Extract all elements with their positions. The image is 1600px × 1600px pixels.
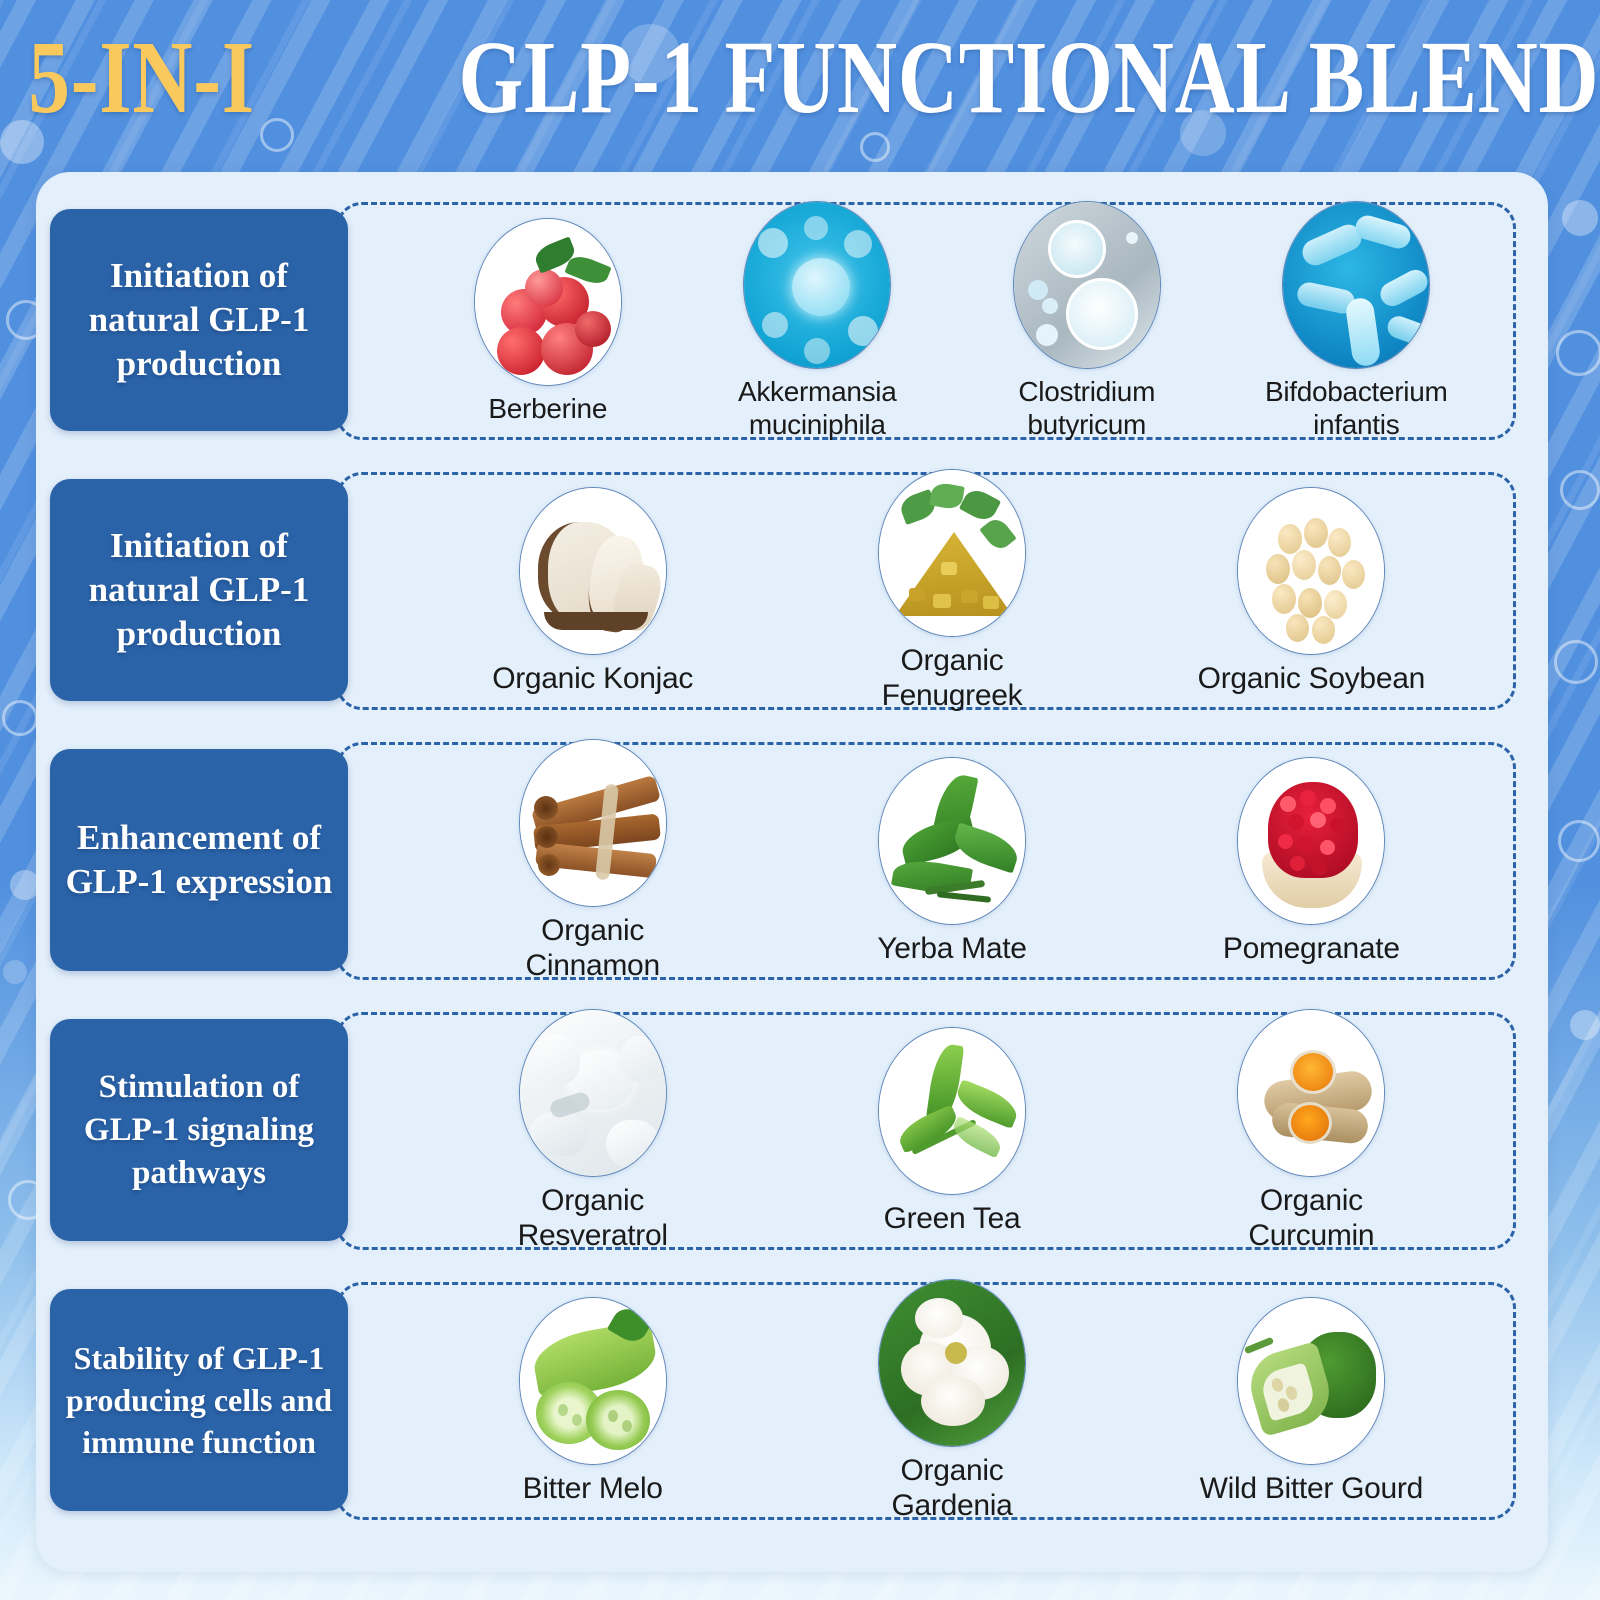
- konjac-root-icon: [519, 487, 667, 655]
- green-tea-leaf-icon: [878, 1027, 1026, 1195]
- background-dot-icon: [1562, 200, 1598, 236]
- background-circle-icon: [1560, 470, 1600, 510]
- item-label: Organic Soybean: [1196, 661, 1426, 696]
- list-item[interactable]: Organic Curcumin: [1196, 1009, 1426, 1253]
- background-circle-icon: [1558, 820, 1600, 862]
- cinnamon-sticks-icon: [519, 739, 667, 907]
- background-circle-icon: [1554, 640, 1598, 684]
- list-item[interactable]: Wild Bitter Gourd: [1196, 1297, 1426, 1506]
- gardenia-flower-icon: [878, 1279, 1026, 1447]
- background-circle-icon: [1556, 330, 1600, 376]
- blend-row: Enhancement of GLP-1 expression Organic …: [36, 726, 1548, 994]
- item-label: Pomegranate: [1196, 931, 1426, 966]
- blend-row: Stimulation of GLP-1 signaling pathways …: [36, 996, 1548, 1264]
- row-items-group: Organic Konjac: [336, 472, 1516, 710]
- list-item[interactable]: Yerba Mate: [837, 757, 1067, 966]
- yerba-leaves-icon: [878, 757, 1026, 925]
- row-label-initiation-1: Initiation of natural GLP-1 production: [50, 209, 348, 431]
- blend-row: Stability of GLP-1 producing cells and i…: [36, 1266, 1548, 1534]
- turmeric-root-icon: [1237, 1009, 1385, 1177]
- row-label-stimulation: Stimulation of GLP-1 signaling pathways: [50, 1019, 348, 1241]
- row-items-group: Bitter Melo Organic Gardenia: [336, 1282, 1516, 1520]
- list-item[interactable]: Green Tea: [837, 1027, 1067, 1236]
- list-item[interactable]: Bitter Melo: [478, 1297, 708, 1506]
- title-highlight: 5-IN-I: [28, 22, 255, 134]
- item-label: Organic Fenugreek: [837, 643, 1067, 713]
- item-label: Organic Gardenia: [837, 1453, 1067, 1523]
- row-label-enhancement: Enhancement of GLP-1 expression: [50, 749, 348, 971]
- list-item[interactable]: Organic Konjac: [478, 487, 708, 696]
- list-item[interactable]: Organic Cinnamon: [478, 739, 708, 983]
- item-label: Wild Bitter Gourd: [1196, 1471, 1426, 1506]
- list-item[interactable]: Berberine: [433, 218, 663, 425]
- cranberry-icon: [474, 218, 622, 386]
- title-rest: GLP-1 FUNCTIONAL BLENDS: [459, 22, 1600, 134]
- pomegranate-icon: [1237, 757, 1385, 925]
- item-label: Organic Resveratrol: [478, 1183, 708, 1253]
- page-title: 5-IN-I GLP-1 FUNCTIONAL BLENDS: [0, 22, 1600, 137]
- background-dot-icon: [3, 960, 27, 984]
- rod-bacteria-icon: [1282, 201, 1430, 369]
- item-label: Organic Cinnamon: [478, 913, 708, 983]
- item-label: Berberine: [433, 392, 663, 425]
- blend-row: Initiation of natural GLP-1 production: [36, 186, 1548, 454]
- list-item[interactable]: Organic Fenugreek: [837, 469, 1067, 713]
- bitter-gourd-icon: [1237, 1297, 1385, 1465]
- item-label: Yerba Mate: [837, 931, 1067, 966]
- item-label: Green Tea: [837, 1201, 1067, 1236]
- background-circle-icon: [2, 700, 38, 736]
- soybean-icon: [1237, 487, 1385, 655]
- item-label: Bifdobacterium infantis: [1241, 375, 1471, 441]
- list-item[interactable]: Organic Soybean: [1196, 487, 1426, 696]
- item-label: Organic Curcumin: [1196, 1183, 1426, 1253]
- blend-row: Initiation of natural GLP-1 production O…: [36, 456, 1548, 724]
- list-item[interactable]: Organic Gardenia: [837, 1279, 1067, 1523]
- row-label-initiation-2: Initiation of natural GLP-1 production: [50, 479, 348, 701]
- list-item[interactable]: Organic Resveratrol: [478, 1009, 708, 1253]
- list-item[interactable]: Bifdobacterium infantis: [1241, 201, 1471, 441]
- item-label: Akkermansia muciniphila: [702, 375, 932, 441]
- row-items-group: Organic Resveratrol Green Tea: [336, 1012, 1516, 1250]
- list-item[interactable]: Clostridium butyricum: [972, 201, 1202, 441]
- grey-cells-icon: [1013, 201, 1161, 369]
- item-label: Bitter Melo: [478, 1471, 708, 1506]
- crystal-icon: [519, 1009, 667, 1177]
- list-item[interactable]: Akkermansia muciniphila: [702, 201, 932, 441]
- list-item[interactable]: Pomegranate: [1196, 757, 1426, 966]
- fenugreek-seeds-icon: [878, 469, 1026, 637]
- bitter-melon-slices-icon: [519, 1297, 667, 1465]
- bacteria-cells-icon: [743, 201, 891, 369]
- item-label: Clostridium butyricum: [972, 375, 1202, 441]
- row-items-group: Organic Cinnamon Yerba Mate: [336, 742, 1516, 980]
- row-items-group: Berberine Akkermansia muciniphila: [336, 202, 1516, 440]
- row-label-stability: Stability of GLP-1 producing cells and i…: [50, 1289, 348, 1511]
- background-dot-icon: [1570, 1010, 1600, 1040]
- item-label: Organic Konjac: [478, 661, 708, 696]
- blends-panel: Initiation of natural GLP-1 production: [36, 172, 1548, 1572]
